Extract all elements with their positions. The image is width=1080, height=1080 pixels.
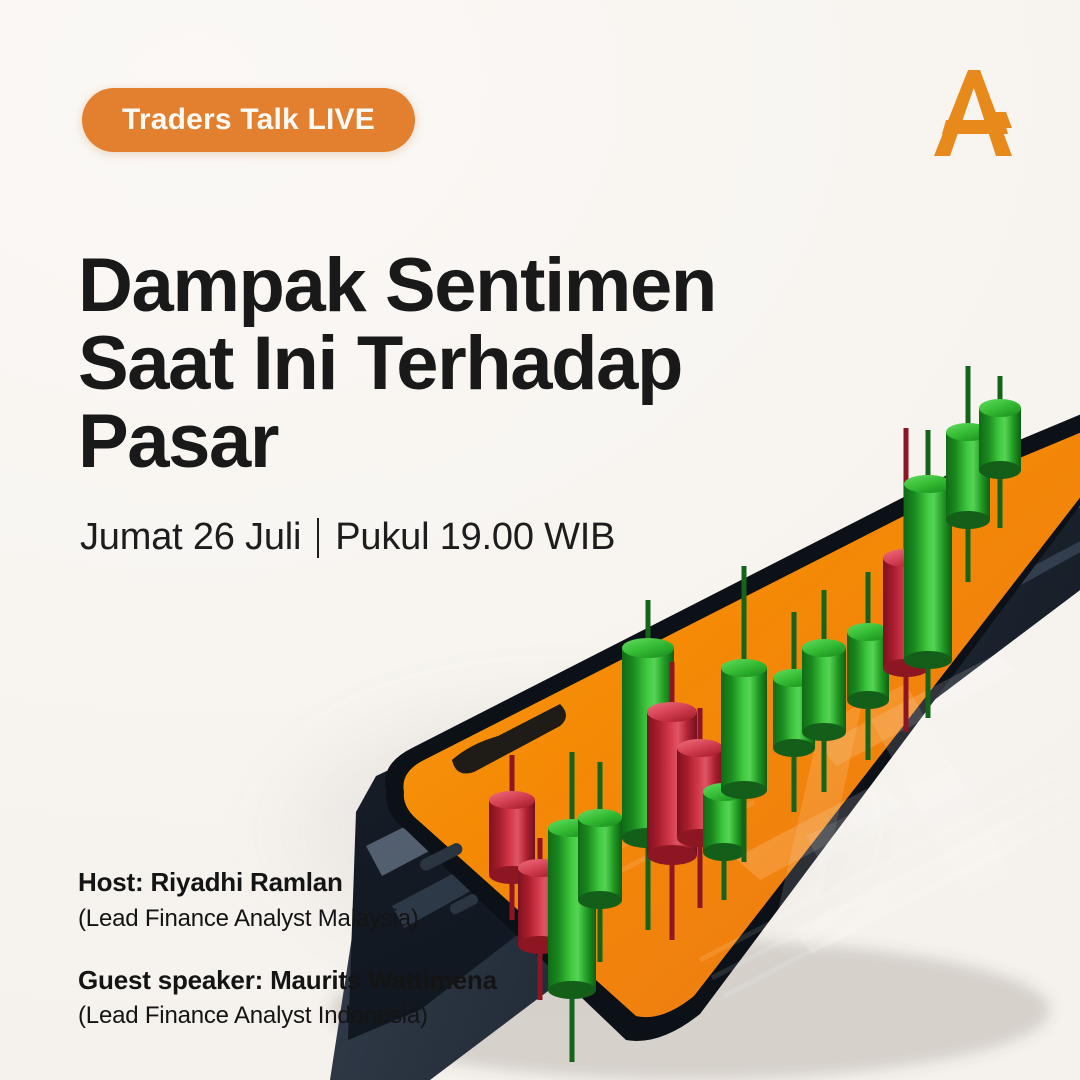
brand-a-logo-icon xyxy=(916,58,1028,170)
live-badge-label: Traders Talk LIVE xyxy=(122,103,375,137)
schedule-separator xyxy=(317,518,319,558)
page-title: Dampak Sentimen Saat Ini Terhadap Pasar xyxy=(78,247,818,482)
live-badge: Traders Talk LIVE xyxy=(82,88,415,152)
credit-host-role: (Lead Finance Analyst Malaysia) xyxy=(78,903,638,934)
schedule-line: Jumat 26 Juli Pukul 19.00 WIB xyxy=(80,516,615,559)
headline-line-2: Saat Ini Terhadap xyxy=(78,325,818,403)
credits-block: Host: Riyadhi Ramlan (Lead Finance Analy… xyxy=(78,866,638,1031)
credit-host-name: Host: Riyadhi Ramlan xyxy=(78,866,638,899)
schedule-time: Pukul 19.00 WIB xyxy=(335,516,615,559)
credit-guest-role: (Lead Finance Analyst Indonesia) xyxy=(78,1000,638,1031)
headline-line-3: Pasar xyxy=(78,403,818,481)
credit-host: Host: Riyadhi Ramlan (Lead Finance Analy… xyxy=(78,866,638,934)
promo-poster: Traders Talk LIVE Dampak Sentimen Saat I… xyxy=(0,0,1080,1080)
schedule-date: Jumat 26 Juli xyxy=(80,516,301,559)
credit-guest-name: Guest speaker: Maurits Wattimena xyxy=(78,964,638,997)
credit-guest: Guest speaker: Maurits Wattimena (Lead F… xyxy=(78,964,638,1032)
headline-line-1: Dampak Sentimen xyxy=(78,247,818,325)
